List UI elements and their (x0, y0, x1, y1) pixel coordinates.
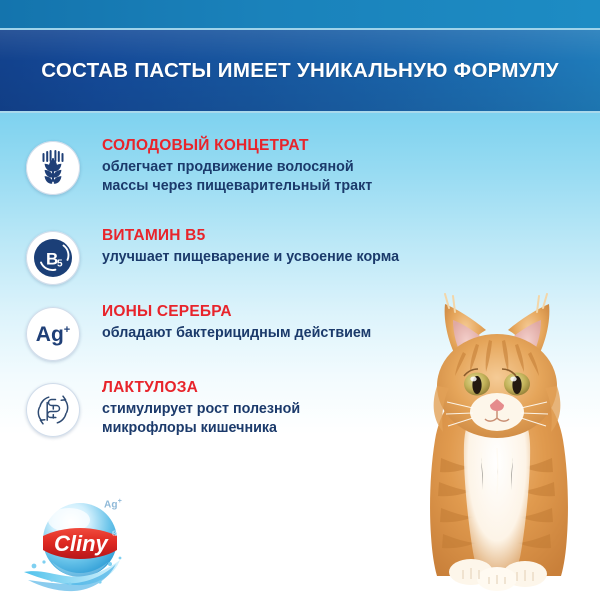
feature-text-block: ВИТАМИН В5 улучшает пищеварение и усвоен… (102, 226, 399, 267)
vitamin-b5-icon-badge: B 5 (26, 231, 80, 285)
feature-title: СОЛОДОВЫЙ КОНЦЕТРАТ (102, 137, 372, 155)
silver-ion-icon-badge: Ag+ (26, 307, 80, 361)
feature-item-vitamin-b5: B 5 ВИТАМИН В5 улучшает пищеварение и ус… (26, 226, 496, 290)
svg-text:5: 5 (57, 259, 63, 270)
intestine-cycle-icon-badge (26, 383, 80, 437)
feature-description: обладают бактерицидным действием (102, 324, 371, 343)
wheat-ear-icon (36, 150, 70, 186)
feature-item-malt-concentrate: СОЛОДОВЫЙ КОНЦЕТРАТ облегчает продвижени… (26, 136, 496, 214)
cliny-logo: Ag+ (22, 492, 150, 596)
vitamin-b5-icon: B 5 (30, 235, 76, 281)
background-top-strip (0, 0, 600, 28)
feature-text-block: СОЛОДОВЫЙ КОНЦЕТРАТ облегчает продвижени… (102, 136, 372, 196)
cliny-wordmark: Cliny (54, 531, 110, 556)
feature-title: ВИТАМИН В5 (102, 227, 399, 245)
ginger-kitten-photo (393, 282, 600, 600)
feature-description: улучшает пищеварение и усвоение корма (102, 248, 399, 267)
feature-title: ЛАКТУЛОЗА (102, 379, 300, 397)
feature-title: ИОНЫ СЕРЕБРА (102, 303, 371, 321)
poster: СОСТАВ ПАСТЫ ИМЕЕТ УНИКАЛЬНУЮ ФОРМУЛУ (0, 0, 600, 600)
page-title: СОСТАВ ПАСТЫ ИМЕЕТ УНИКАЛЬНУЮ ФОРМУЛУ (41, 59, 559, 83)
feature-text-block: ЛАКТУЛОЗА стимулирует рост полезной микр… (102, 378, 300, 438)
intestine-cycle-icon (33, 390, 73, 430)
registered-mark: ® (112, 530, 118, 538)
silver-ion-charge: + (64, 324, 70, 336)
header-banner: СОСТАВ ПАСТЫ ИМЕЕТ УНИКАЛЬНУЮ ФОРМУЛУ (0, 28, 600, 113)
feature-description: стимулирует рост полезной микрофлоры киш… (102, 400, 300, 438)
silver-ion-symbol: Ag (36, 323, 64, 346)
feature-text-block: ИОНЫ СЕРЕБРА обладают бактерицидным дейс… (102, 302, 371, 343)
feature-description: облегчает продвижение волосяной массы че… (102, 158, 372, 196)
silver-ion-icon: Ag+ (36, 324, 70, 345)
cliny-logo-artwork: Cliny ® (22, 492, 150, 600)
wheat-ear-icon-badge (26, 141, 80, 195)
